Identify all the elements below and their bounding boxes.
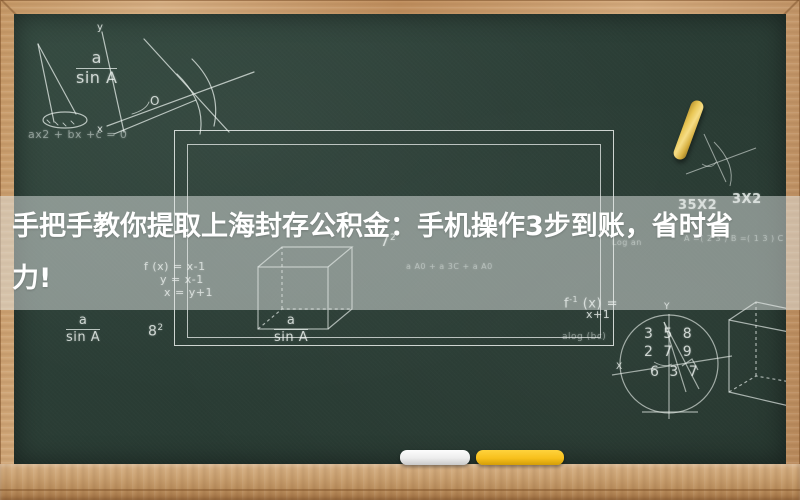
white-chalk-icon (400, 450, 470, 465)
banner-title: 手把手教你提取上海封存公积金：手机操作3步到账，省时省 力! (12, 196, 800, 310)
banner-title-line-1: 手把手教你提取上海封存公积金：手机操作3步到账，省时省 (12, 201, 800, 253)
yellow-chalk-icon (476, 450, 564, 465)
chalk-axis-y-label-top: y (97, 22, 103, 33)
chalk-eight-squared: 82 (148, 323, 164, 340)
chalk-sum-line-2: 2 7 9 (644, 344, 695, 360)
chalk-tray-ledge (0, 464, 800, 500)
blackboard-banner: a sin A ax2 + bx +c = 0 y x O f (x) = x-… (0, 0, 800, 500)
chalk-quadratic-equation: ax2 + bx +c = 0 (28, 128, 127, 141)
chalk-fraction-a-sin-a-bottom-left: a sin A (66, 314, 100, 345)
chalk-sum-result: 6 3 7 (650, 364, 701, 380)
chalk-axis-x-label-right: X (616, 362, 623, 372)
chalk-angle-label-o: O (150, 94, 160, 108)
ledge-lip (0, 489, 800, 491)
banner-title-line-2: 力! (12, 253, 800, 305)
chalk-axis-x-label-top: x (97, 124, 103, 135)
chalk-fraction-a-sin-a-top: a sin A (76, 50, 117, 87)
chalk-sum-line-1: 3 5 8 (644, 326, 695, 342)
